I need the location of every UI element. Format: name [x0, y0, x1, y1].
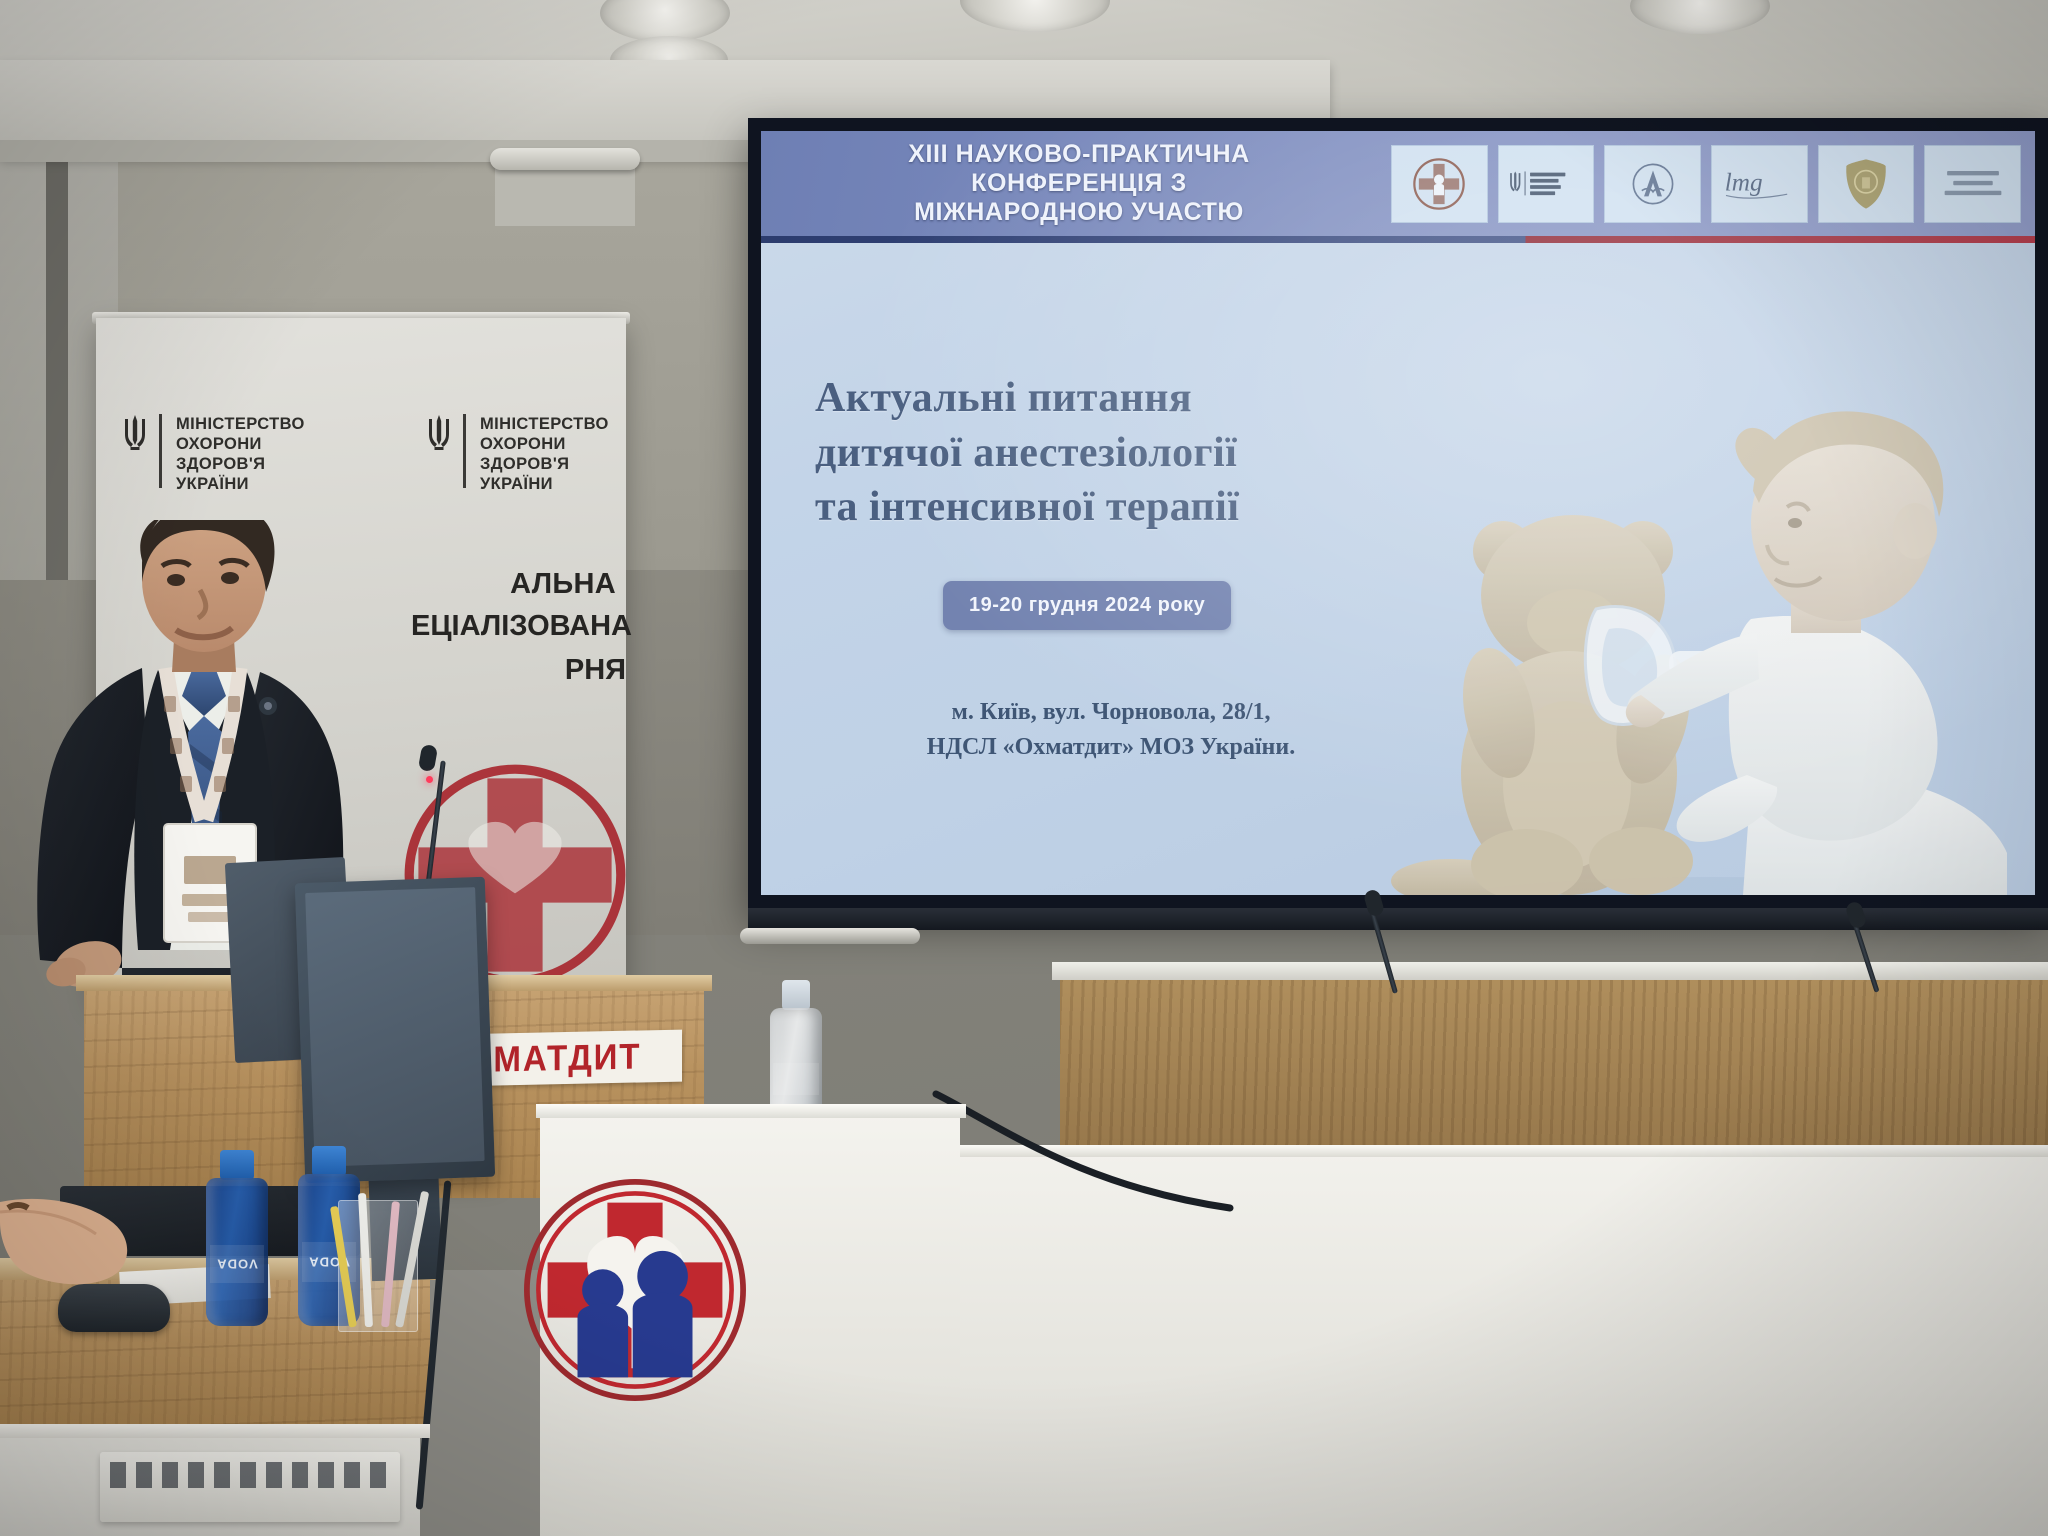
- lower-shelf-top: [0, 1424, 430, 1438]
- bottle-label-text: VODA: [216, 1256, 258, 1271]
- cable: [930, 1090, 1270, 1220]
- projection-screen: XIII НАУКОВО-ПРАКТИЧНА КОНФЕРЕНЦІЯ З МІЖ…: [748, 118, 2048, 908]
- slide-header-rule: [761, 236, 2035, 243]
- text-partner-logo-icon: [1924, 145, 2021, 223]
- ceiling-light-icon: [960, 0, 1110, 32]
- slide-header-title: XIII НАУКОВО-ПРАКТИЧНА КОНФЕРЕНЦІЯ З МІЖ…: [761, 140, 1381, 228]
- slide-venue-text: м. Київ, вул. Чорновола, 28/1, НДСЛ «Охм…: [851, 695, 1371, 765]
- header-title-line: XIII НАУКОВО-ПРАКТИЧНА: [777, 140, 1381, 169]
- lockup-line: ЗДОРОВ'Я: [480, 454, 609, 474]
- lockup-divider: [463, 414, 466, 488]
- projection-screen-roller[interactable]: [740, 928, 920, 944]
- lockup-line: ОХОРОНИ: [176, 434, 305, 454]
- slide-header-band: XIII НАУКОВО-ПРАКТИЧНА КОНФЕРЕНЦІЯ З МІЖ…: [761, 131, 2035, 236]
- microphone-led-indicator: [426, 776, 433, 783]
- ministry-lockup: МІНІСТЕРСТВО ОХОРОНИ ЗДОРОВ'Я УКРАЇНИ: [426, 414, 609, 495]
- bottle-cap: [782, 980, 810, 1010]
- header-title-line: КОНФЕРЕНЦІЯ З: [777, 169, 1381, 198]
- okhmatdyt-desk-emblem-icon: [520, 1175, 750, 1405]
- slide-title-line: Актуальні питання: [815, 371, 1395, 426]
- header-title-line: МІЖНАРОДНОЮ УЧАСТЮ: [777, 198, 1381, 227]
- svg-text:lmg: lmg: [1725, 169, 1763, 196]
- gold-crest-logo-icon: [1818, 145, 1915, 223]
- ministry-lockup-text: МІНІСТЕРСТВО ОХОРОНИ ЗДОРОВ'Я УКРАЇНИ: [480, 414, 609, 495]
- water-bottle-blue[interactable]: VODA: [206, 1150, 268, 1326]
- venue-line: НДСЛ «Охматдит» МОЗ України.: [851, 730, 1371, 765]
- sponsor-logo-row: lmg: [1381, 146, 2035, 222]
- okhmatdyt-emblem-logo-icon: [1391, 145, 1488, 223]
- ministry-lockup-text: МІНІСТЕРСТВО ОХОРОНИ ЗДОРОВ'Я УКРАЇНИ: [176, 414, 305, 495]
- front-counter-edge: [536, 1104, 966, 1118]
- screenshot-root: МІНІСТЕРСТВО ОХОРОНИ ЗДОРОВ'Я УКРАЇНИ МІ…: [0, 0, 2048, 1536]
- panel-desk-right-top: [1052, 962, 2048, 980]
- ceiling-light-icon: [1630, 0, 1770, 34]
- bottle-label: VODA: [210, 1245, 265, 1283]
- computer-monitor[interactable]: [295, 877, 495, 1183]
- slide-photo-child-with-teddy: [1391, 383, 2031, 895]
- roller-blind-fabric: [495, 166, 635, 226]
- pen[interactable]: [381, 1201, 400, 1327]
- pen[interactable]: [358, 1193, 373, 1327]
- lockup-line: МІНІСТЕРСТВО: [176, 414, 305, 434]
- lockup-line: УКРАЇНИ: [176, 474, 305, 494]
- pen-holder[interactable]: [338, 1200, 418, 1332]
- bottle-cap: [220, 1150, 253, 1180]
- monitor-screen: [305, 887, 484, 1167]
- ministry-lockup: МІНІСТЕРСТВО ОХОРОНИ ЗДОРОВ'Я УКРАЇНИ: [122, 414, 305, 495]
- aaa-circle-logo-icon: [1604, 145, 1701, 223]
- podium-sign-text: МАТДИТ: [493, 1035, 641, 1080]
- venue-line: м. Київ, вул. Чорновола, 28/1,: [851, 695, 1371, 730]
- lmg-script-logo-icon: lmg: [1711, 145, 1808, 223]
- moz-ukraine-logo-icon: [1498, 145, 1595, 223]
- slide-title-line: дитячої анестезіології: [815, 426, 1395, 481]
- keyboard-keys[interactable]: [110, 1462, 390, 1488]
- tryzub-coat-of-arms-icon: [122, 414, 148, 454]
- roller-blind[interactable]: [490, 148, 640, 170]
- slide-body: Актуальні питання дитячої анестезіології…: [761, 243, 2035, 895]
- bottle-cap: [312, 1146, 345, 1176]
- lockup-line: МІНІСТЕРСТВО: [480, 414, 609, 434]
- projected-slide: XIII НАУКОВО-ПРАКТИЧНА КОНФЕРЕНЦІЯ З МІЖ…: [761, 131, 2035, 895]
- tryzub-coat-of-arms-icon: [426, 414, 452, 454]
- wall-left-strip: [46, 120, 68, 580]
- slide-title: Актуальні питання дитячої анестезіології…: [815, 371, 1395, 535]
- lockup-divider: [159, 414, 162, 488]
- lockup-line: ОХОРОНИ: [480, 434, 609, 454]
- lockup-line: УКРАЇНИ: [480, 474, 609, 494]
- slide-date-badge: 19-20 грудня 2024 року: [943, 581, 1231, 630]
- slide-title-line: та інтенсивної терапії: [815, 480, 1395, 535]
- bottle-label: [773, 1063, 819, 1095]
- lockup-line: ЗДОРОВ'Я: [176, 454, 305, 474]
- bottle-body: VODA: [206, 1178, 268, 1326]
- operator-hand: [0, 1192, 175, 1300]
